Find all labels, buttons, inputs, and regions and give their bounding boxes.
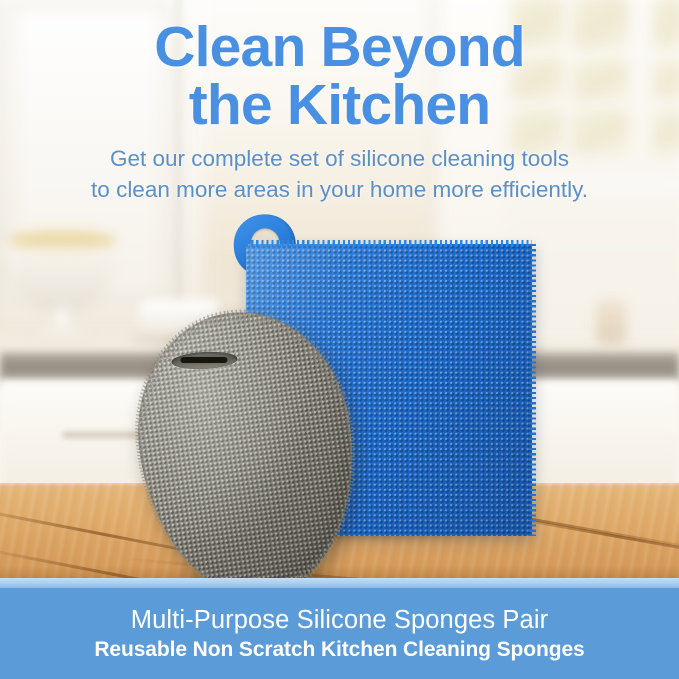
bowl-foot: [34, 326, 90, 338]
page-subtitle: Get our complete set of silicone cleanin…: [0, 143, 679, 205]
product-marketing-image: Clean Beyond the Kitchen Get our complet…: [0, 0, 679, 679]
headline-line-2: the Kitchen: [0, 76, 679, 134]
mat-top-bristle-fringe: [246, 240, 532, 247]
page-title: Clean Beyond the Kitchen: [0, 18, 679, 134]
counter-jar: [556, 278, 594, 340]
banner-title: Multi-Purpose Silicone Sponges Pair: [131, 605, 548, 636]
counter-jar-small: [596, 300, 626, 344]
headline-line-1: Clean Beyond: [0, 18, 679, 76]
banner-top-strip: [0, 578, 679, 588]
mat-right-bristle-fringe: [529, 244, 536, 536]
bowl-contents: [8, 230, 116, 252]
banner-subtitle: Reusable Non Scratch Kitchen Cleaning Sp…: [94, 636, 584, 663]
product-gray-silicone-sponge: [122, 299, 372, 611]
subhead-line-1: Get our complete set of silicone cleanin…: [0, 143, 679, 174]
glass-bowl: [6, 222, 118, 340]
product-caption-banner: Multi-Purpose Silicone Sponges Pair Reus…: [0, 588, 679, 679]
subhead-line-2: to clean more areas in your home more ef…: [0, 174, 679, 205]
